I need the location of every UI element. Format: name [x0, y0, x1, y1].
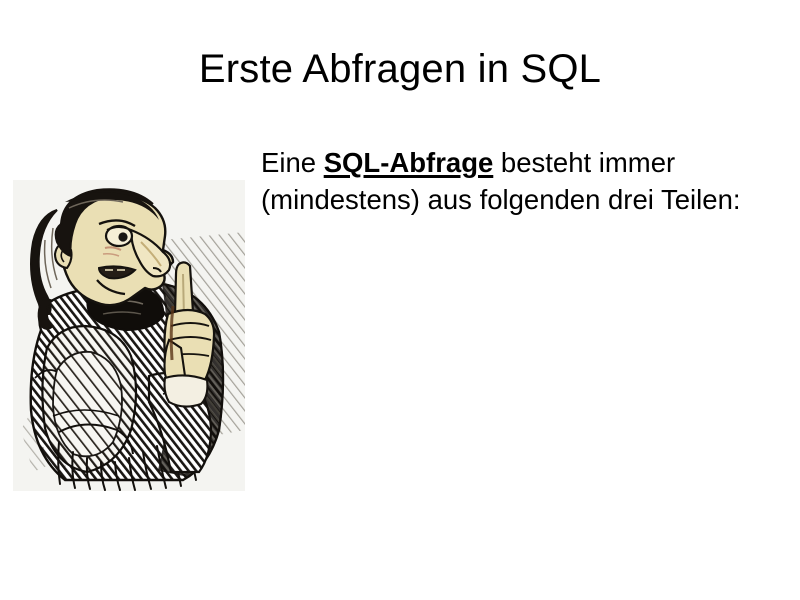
body-line-1-prefix: Eine — [261, 147, 324, 178]
slide-canvas: Erste Abfragen in SQL — [0, 0, 800, 600]
page-title: Erste Abfragen in SQL — [0, 44, 800, 94]
body-line-2: (mindestens) aus folgenden drei Teilen: — [261, 181, 800, 218]
schoolmaster-cartoon-image — [13, 180, 245, 491]
sql-abfrage-term: SQL-Abfrage — [324, 147, 494, 178]
schoolmaster-cartoon-svg — [13, 180, 245, 491]
body-paragraph: Eine SQL-Abfrage besteht immer (mindeste… — [261, 144, 800, 218]
body-line-1: Eine SQL-Abfrage besteht immer — [261, 144, 800, 181]
body-line-1-suffix: besteht immer — [493, 147, 675, 178]
